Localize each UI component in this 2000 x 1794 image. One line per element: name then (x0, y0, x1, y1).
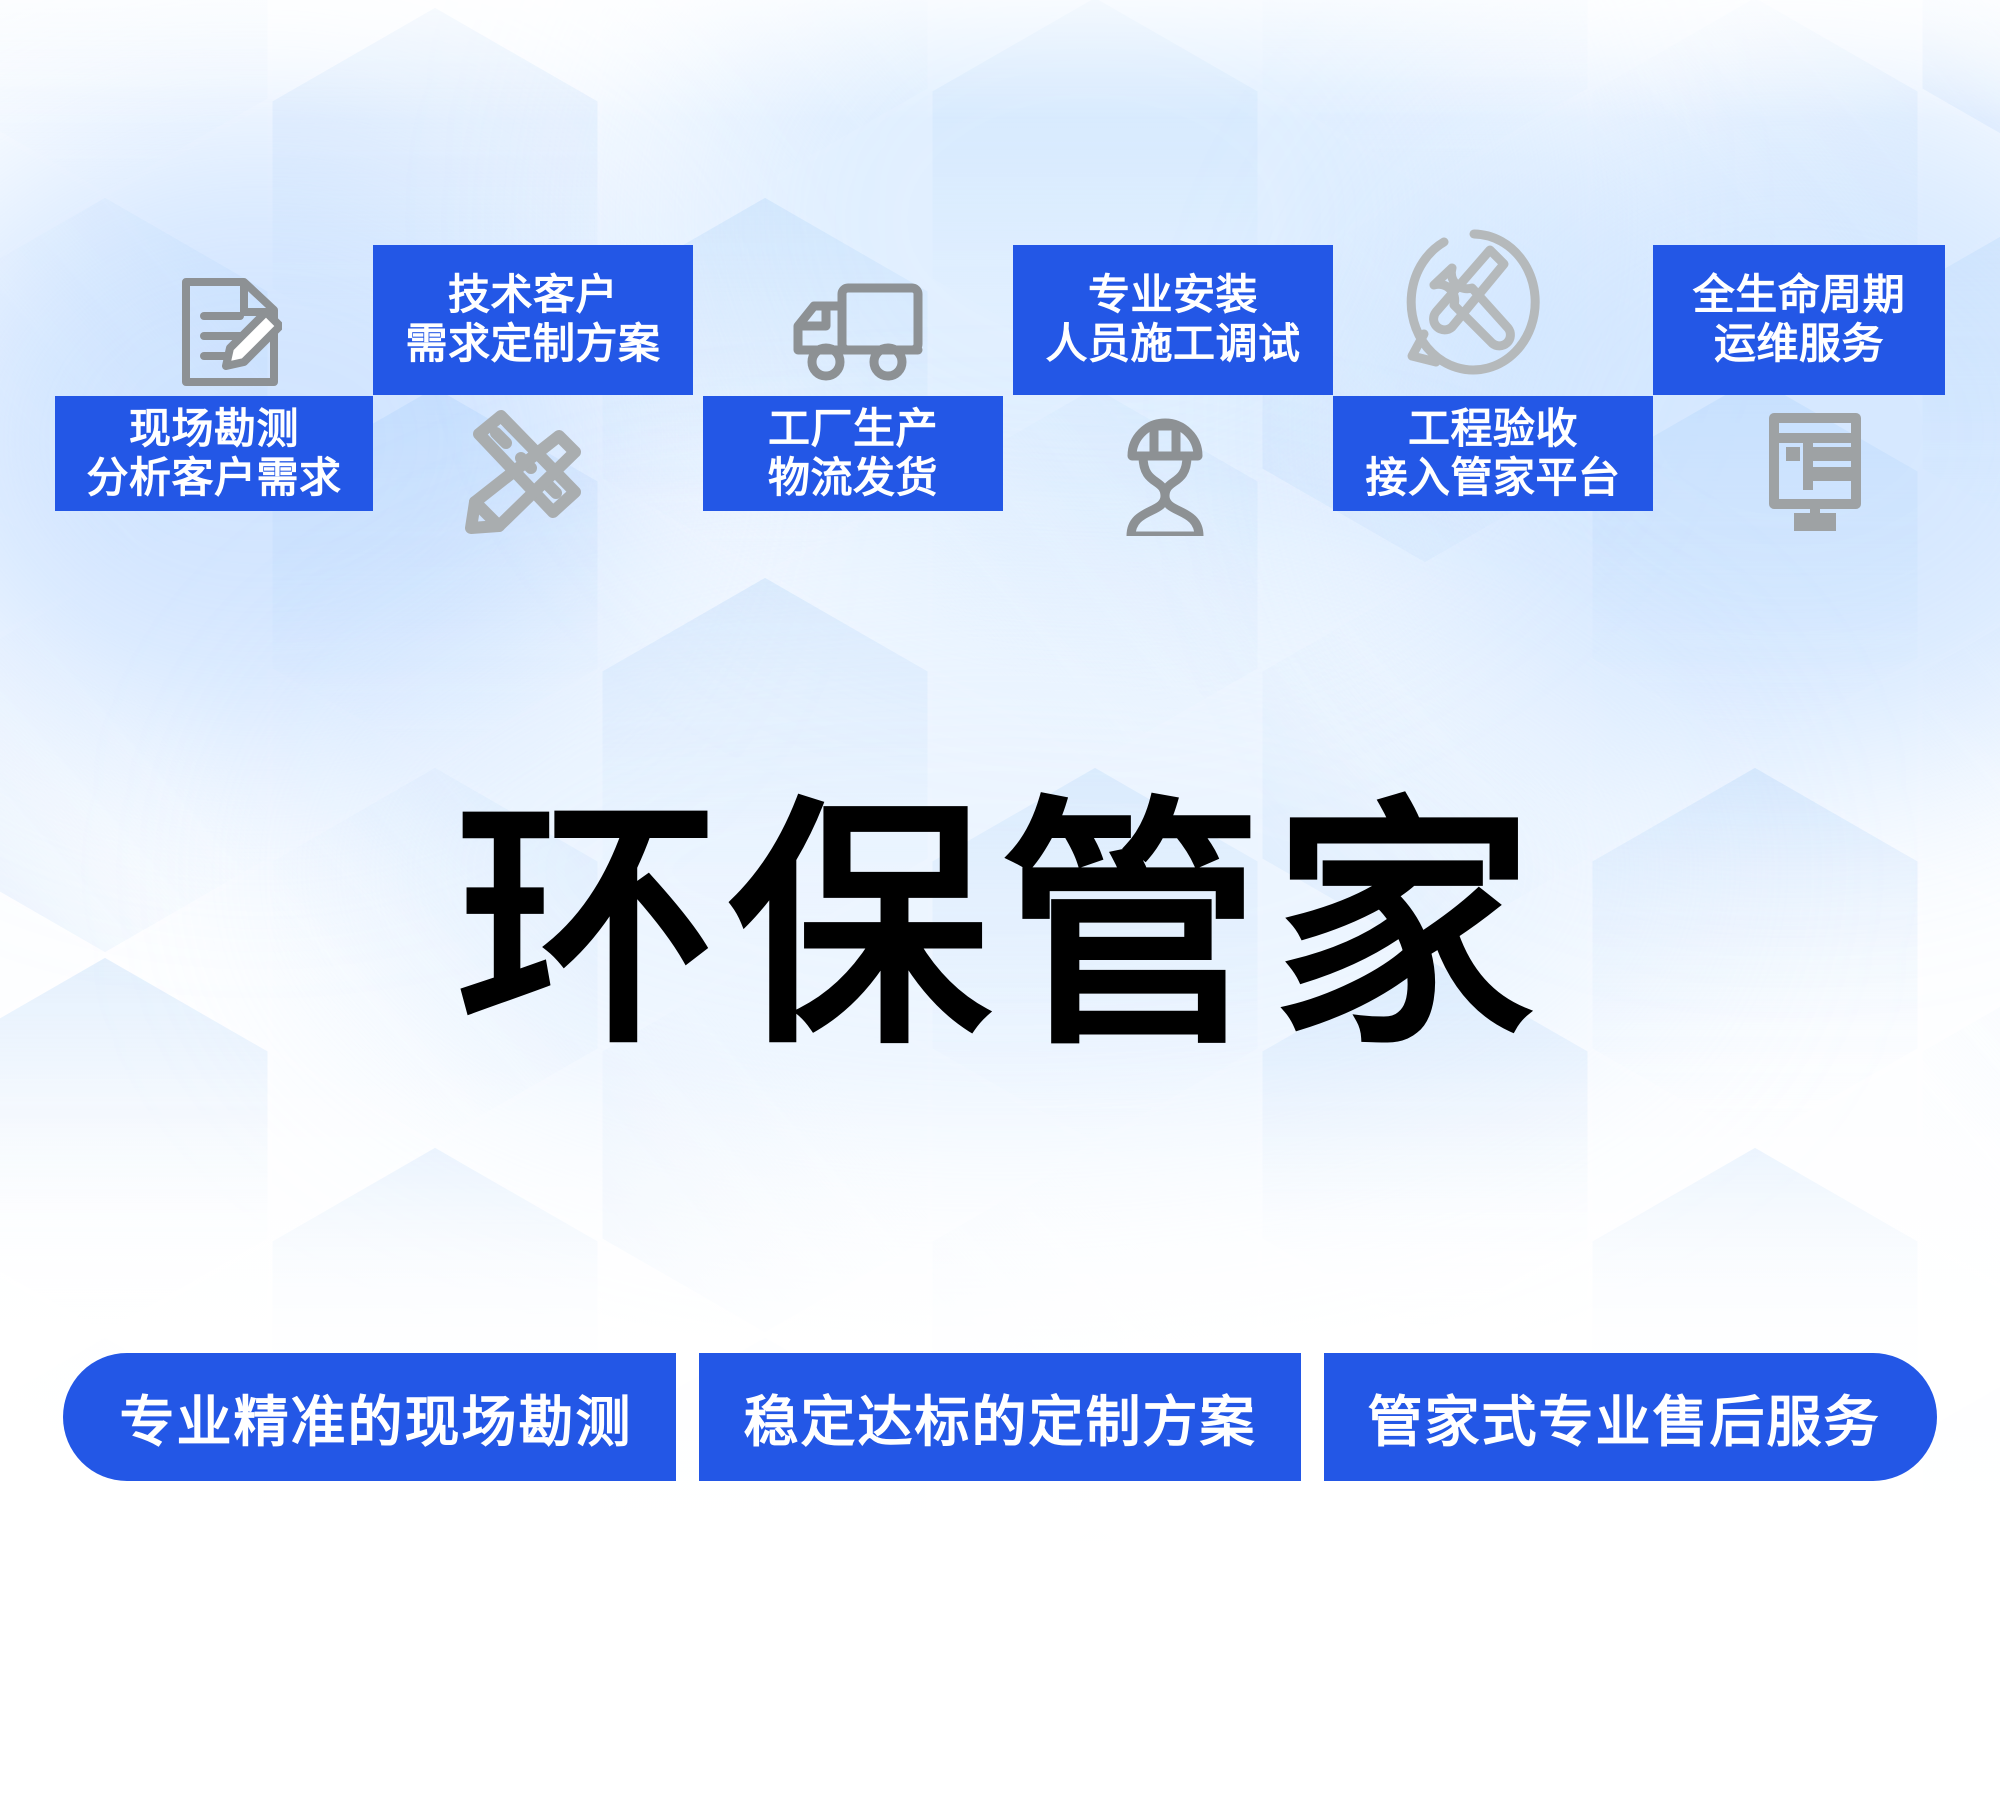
step-1-line-2: 分析客户需求 (86, 454, 341, 503)
document-edit-icon (178, 272, 282, 392)
process-step-2[interactable]: 技术客户 需求定制方案 (373, 245, 693, 395)
step-5-line-1: 工程验收 (1408, 405, 1578, 454)
process-step-6[interactable]: 全生命周期 运维服务 (1653, 245, 1945, 395)
delivery-truck-icon (790, 278, 926, 390)
feature-pill-2[interactable]: 稳定达标的定制方案 (699, 1353, 1300, 1481)
step-6-line-1: 全生命周期 (1693, 271, 1906, 320)
worker-helmet-icon (1110, 410, 1220, 536)
step-3-line-2: 物流发货 (768, 454, 938, 503)
feature-pill-1[interactable]: 专业精准的现场勘测 (63, 1353, 676, 1481)
pen-ruler-icon (455, 408, 585, 536)
step-4-line-2: 人员施工调试 (1045, 320, 1300, 369)
step-6-line-2: 运维服务 (1714, 320, 1884, 369)
bg-top-fade (0, 0, 2000, 120)
step-5-line-2: 接入管家平台 (1365, 454, 1620, 503)
step-3-line-1: 工厂生产 (768, 405, 938, 454)
step-2-line-1: 技术客户 (448, 271, 618, 320)
step-1-line-1: 现场勘测 (129, 405, 299, 454)
promo-banner: 现场勘测 分析客户需求 技术客户 需求定制方案 (0, 0, 2000, 1794)
feature-pill-3[interactable]: 管家式专业售后服务 (1324, 1353, 1937, 1481)
process-step-4[interactable]: 专业安装 人员施工调试 (1013, 245, 1333, 395)
step-4-line-1: 专业安装 (1088, 271, 1258, 320)
step-2-line-2: 需求定制方案 (405, 320, 660, 369)
monitor-platform-icon (1760, 410, 1870, 536)
feature-pill-group: 专业精准的现场勘测 稳定达标的定制方案 管家式专业售后服务 (0, 1353, 2000, 1481)
process-step-3[interactable]: 工厂生产 物流发货 (703, 396, 1003, 511)
process-step-5[interactable]: 工程验收 接入管家平台 (1333, 396, 1653, 511)
page-title: 环保管家 (0, 795, 2000, 1057)
process-step-1[interactable]: 现场勘测 分析客户需求 (55, 396, 373, 511)
tools-maintenance-icon (1400, 222, 1548, 382)
